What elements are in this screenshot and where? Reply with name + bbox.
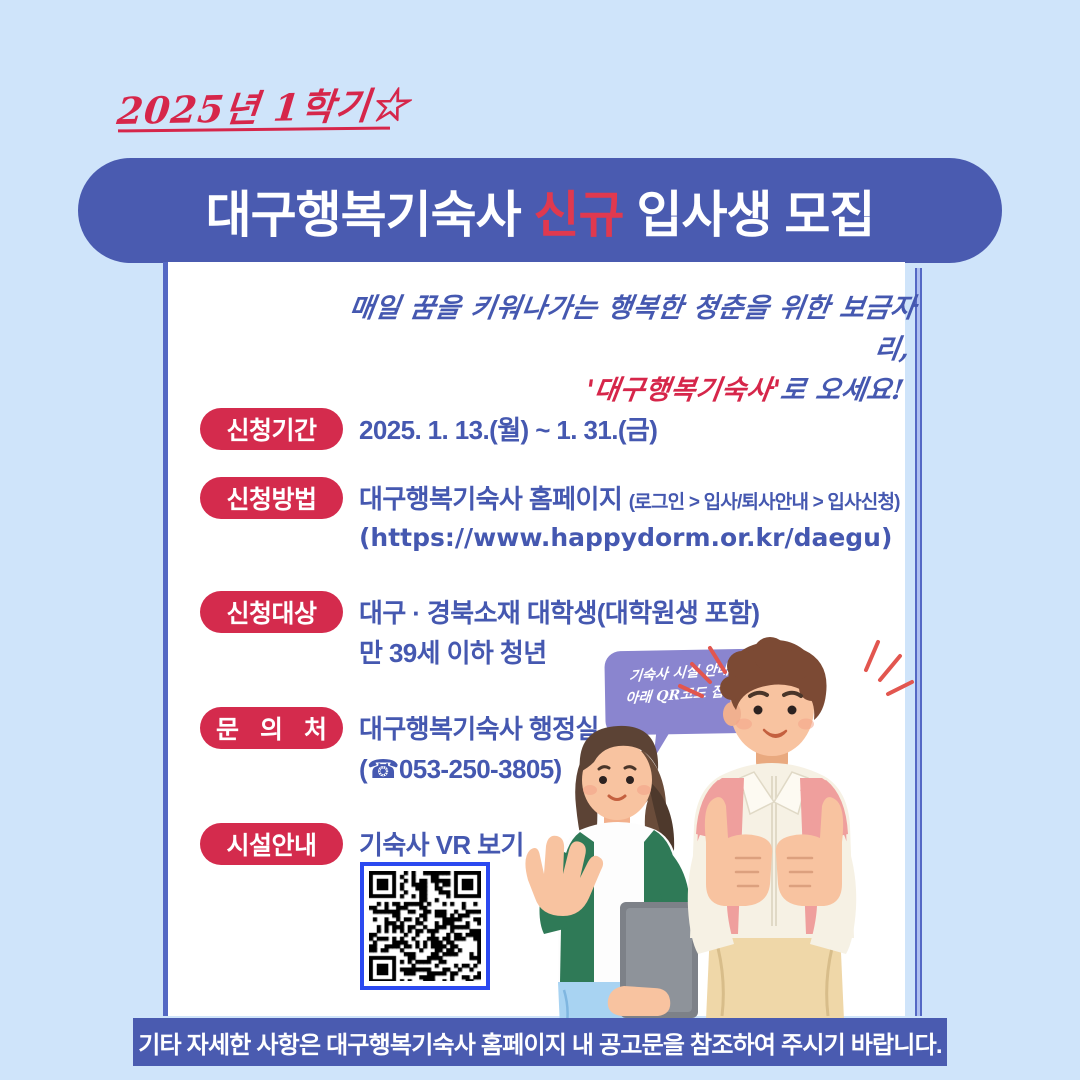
pill-facility-info: 시설안내	[200, 823, 343, 865]
title-banner: 대구행복기숙사 신규 입사생 모집	[78, 158, 1002, 263]
qr-code-canvas	[369, 871, 481, 981]
eligibility-line-1: 대구 · 경북소재 대학생(대학원생 포함)	[359, 594, 759, 634]
eye-right	[788, 706, 797, 715]
info-row-application-period: 신청기간 2025. 1. 13.(월) ~ 1. 31.(금)	[200, 408, 930, 451]
eye-right	[626, 776, 634, 784]
pill-application-period: 신청기간	[200, 408, 343, 450]
tagline-line-2-rest: 로 오세요!	[778, 375, 906, 406]
footer-bar: 기타 자세한 사항은 대구행복기숙사 홈페이지 내 공고문을 참조하여 주시기 …	[133, 1018, 947, 1066]
info-body-application-period: 2025. 1. 13.(월) ~ 1. 31.(금)	[359, 408, 657, 451]
student-woman-figure	[525, 726, 698, 1020]
pill-application-method: 신청방법	[200, 477, 343, 519]
eye-left	[754, 706, 763, 715]
eye-left	[599, 776, 607, 784]
pill-contact: 문 의 처	[200, 707, 343, 749]
pill-eligibility: 신청대상	[200, 591, 343, 633]
application-method-site: 대구행복기숙사 홈페이지	[359, 484, 622, 514]
info-row-application-method: 신청방법 대구행복기숙사 홈페이지 (로그인 > 입사/퇴사안내 > 입사신청)…	[200, 477, 930, 558]
application-method-line-1: 대구행복기숙사 홈페이지 (로그인 > 입사/퇴사안내 > 입사신청)	[359, 480, 900, 520]
footer-note: 기타 자세한 사항은 대구행복기숙사 홈페이지 내 공고문을 참조하여 주시기 …	[138, 1025, 941, 1060]
info-body-application-method: 대구행복기숙사 홈페이지 (로그인 > 입사/퇴사안내 > 입사신청) (htt…	[359, 477, 900, 558]
tagline-highlight: '대구행복기숙사'	[584, 375, 783, 406]
student-man-figure	[688, 637, 856, 1020]
facility-vr-label: 기숙사 VR 보기	[359, 826, 524, 866]
info-body-facility: 기숙사 VR 보기	[359, 823, 524, 866]
title-highlight-new: 신규	[534, 187, 624, 243]
title-part-1: 대구행복기숙사	[206, 187, 534, 243]
application-period-value: 2025. 1. 13.(월) ~ 1. 31.(금)	[359, 411, 657, 451]
qr-code[interactable]	[360, 862, 490, 990]
tagline: 매일 꿈을 키워나가는 행복한 청춘을 위한 보금자리, '대구행복기숙사'로 …	[311, 288, 918, 411]
page-title: 대구행복기숙사 신규 입사생 모집	[206, 175, 875, 247]
students-illustration	[520, 630, 940, 1020]
application-method-path: (로그인 > 입사/퇴사안내 > 입사신청)	[629, 492, 900, 513]
title-part-2: 입사생 모집	[624, 187, 875, 243]
tagline-line-1: 매일 꿈을 키워나가는 행복한 청춘을 위한 보금자리,	[347, 293, 918, 365]
application-method-url[interactable]: (https://www.happydorm.or.kr/daegu)	[359, 519, 900, 557]
